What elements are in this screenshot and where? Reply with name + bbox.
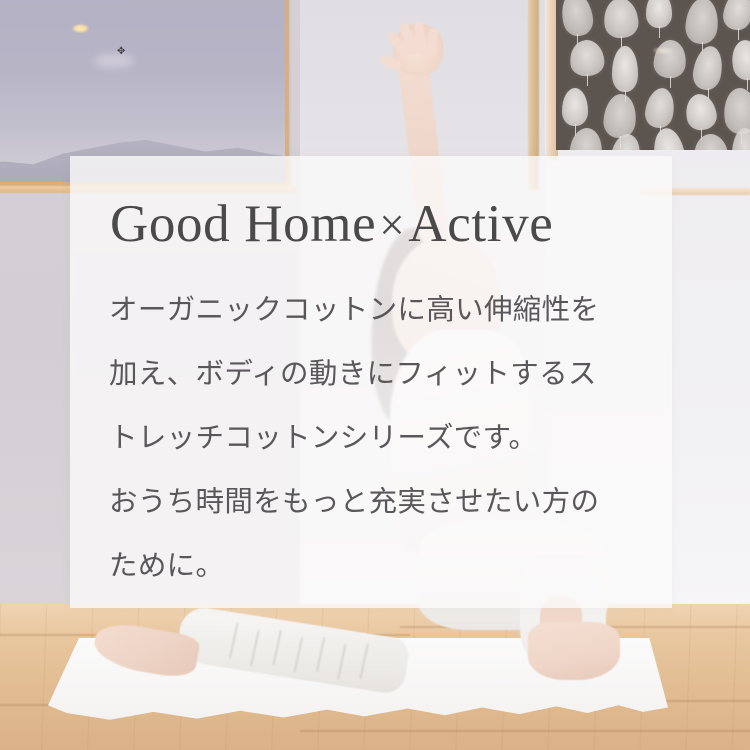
banner-image: ✥ bbox=[0, 0, 750, 750]
legging-ripple bbox=[229, 623, 238, 659]
legging-ripple bbox=[316, 637, 325, 673]
headline-right-word: Active bbox=[408, 195, 553, 253]
legging-ripple bbox=[250, 630, 259, 666]
text-overlay-panel: Good Home×Active オーガニックコットンに高い伸縮性を 加え、ボデ… bbox=[70, 156, 672, 608]
legging-ripple bbox=[337, 644, 346, 680]
body-copy-line: オーガニックコットンに高い伸縮性を bbox=[109, 279, 649, 343]
legging-ripple bbox=[272, 630, 281, 666]
headline: Good Home×Active bbox=[110, 198, 553, 251]
body-copy-line: 加え、ボディの動きにフィットするス bbox=[109, 343, 649, 407]
subject-front-foot bbox=[528, 622, 620, 680]
body-copy-line: トレッチコットンシリーズです。 bbox=[109, 407, 649, 471]
multiply-symbol-icon: × bbox=[376, 200, 408, 250]
body-copy-line: おうち時間をもっと充実させたい方の bbox=[109, 471, 649, 535]
headline-left-word: Good Home bbox=[110, 195, 376, 253]
subject-back-shin-legging bbox=[175, 604, 411, 695]
legging-ripple bbox=[359, 643, 368, 679]
body-copy: オーガニックコットンに高い伸縮性を 加え、ボディの動きにフィットするス トレッチ… bbox=[109, 279, 649, 599]
body-copy-line: ために。 bbox=[109, 535, 649, 599]
legging-ripple bbox=[294, 637, 303, 673]
